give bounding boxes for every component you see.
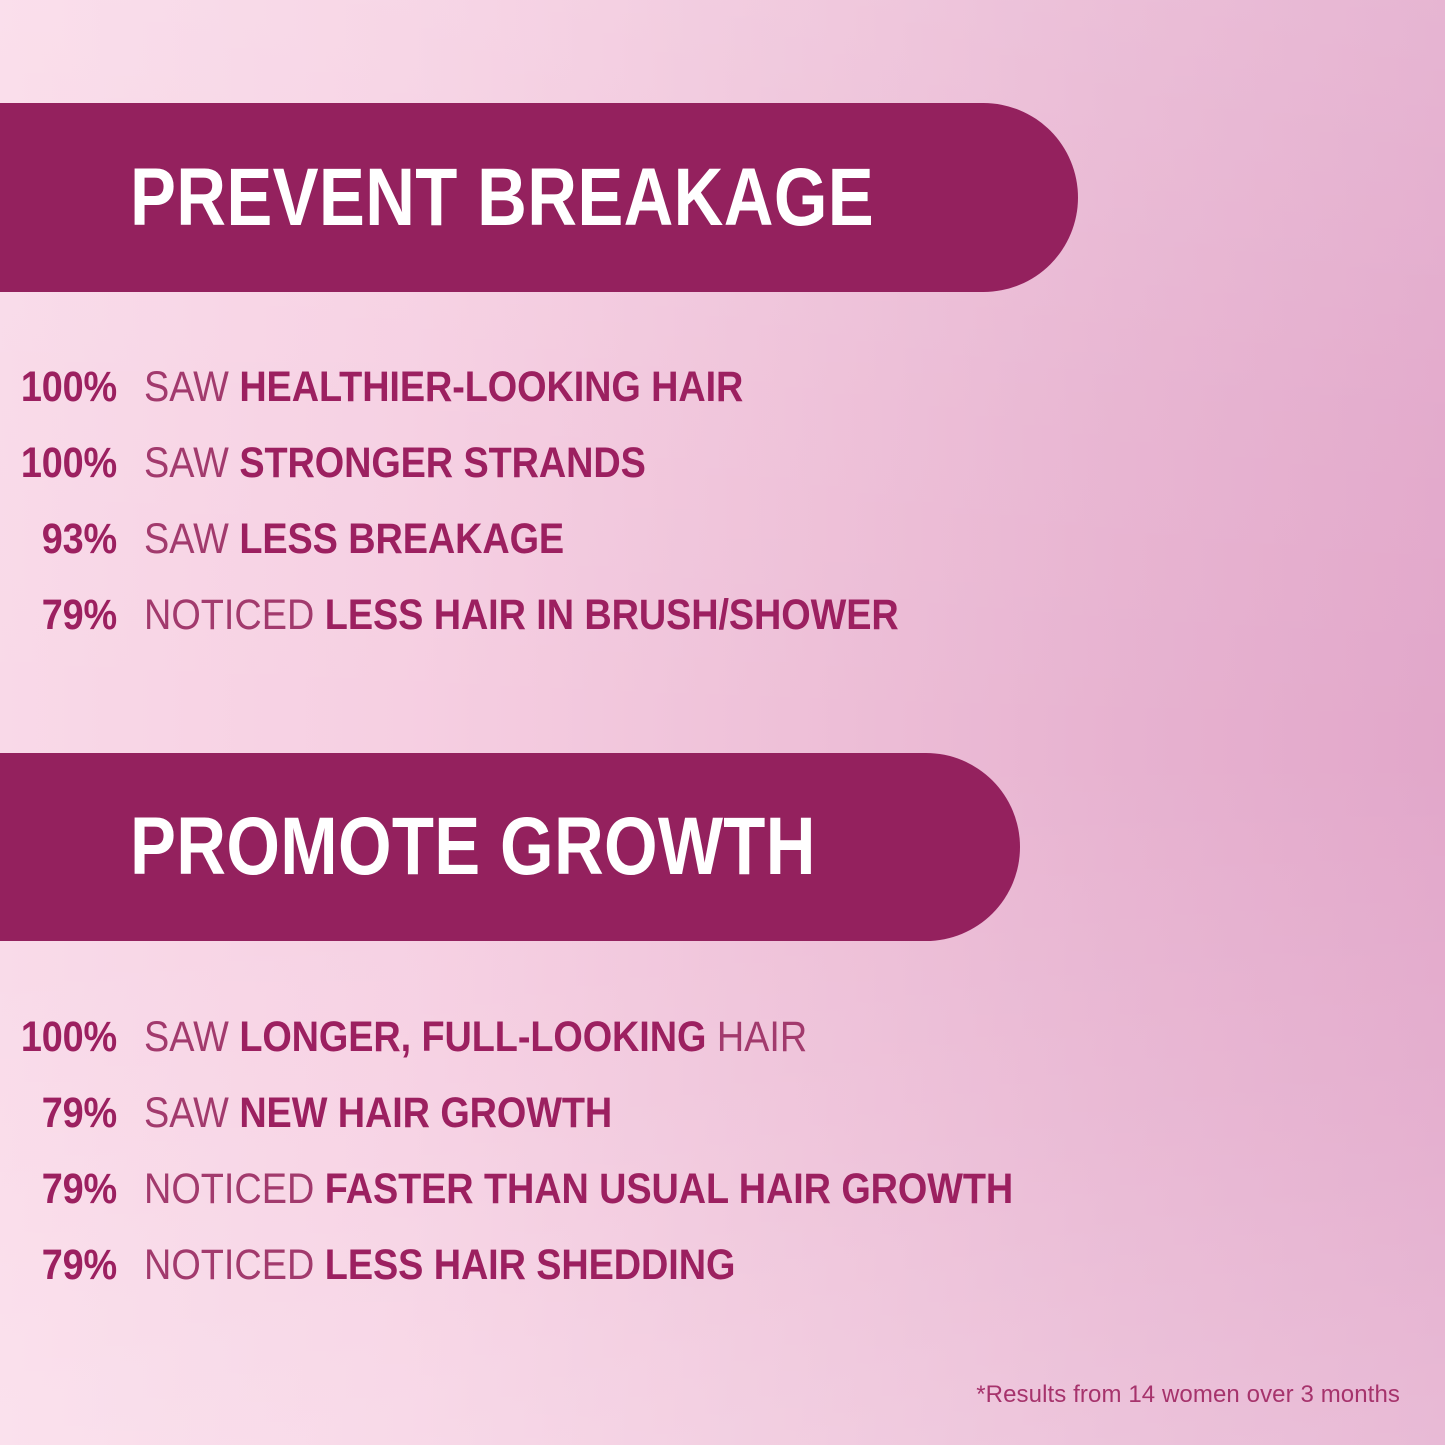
stat-statement: SAW LESS BREAKAGE bbox=[144, 518, 564, 561]
stat-claim: LONGER, FULL-LOOKING bbox=[239, 1013, 706, 1061]
stat-claim: NEW HAIR GROWTH bbox=[239, 1089, 612, 1137]
stat-verb: SAW bbox=[144, 1013, 229, 1061]
stat-row: 100% SAW STRONGER STRANDS bbox=[0, 442, 1445, 518]
stat-row: 79% NOTICED LESS HAIR IN BRUSH/SHOWER bbox=[0, 594, 1445, 670]
stat-verb: NOTICED bbox=[144, 591, 314, 639]
section-banner-promote-growth: PROMOTE GROWTH bbox=[0, 753, 1020, 941]
stat-row: 79% SAW NEW HAIR GROWTH bbox=[0, 1092, 1445, 1168]
stat-percent: 100% bbox=[14, 1016, 117, 1059]
stat-claim: LESS BREAKAGE bbox=[239, 515, 564, 563]
stat-statement: NOTICED LESS HAIR IN BRUSH/SHOWER bbox=[144, 594, 899, 637]
stat-statement: SAW STRONGER STRANDS bbox=[144, 442, 646, 485]
stat-row: 100% SAW LONGER, FULL-LOOKING HAIR bbox=[0, 1016, 1445, 1092]
stat-verb: NOTICED bbox=[144, 1241, 314, 1289]
stat-row: 100% SAW HEALTHIER-LOOKING HAIR bbox=[0, 366, 1445, 442]
stat-verb: SAW bbox=[144, 515, 229, 563]
stat-percent: 100% bbox=[14, 442, 117, 485]
stat-verb: NOTICED bbox=[144, 1165, 314, 1213]
stat-row: 79% NOTICED LESS HAIR SHEDDING bbox=[0, 1244, 1445, 1320]
results-footnote: *Results from 14 women over 3 months bbox=[976, 1381, 1400, 1410]
stat-claim: LESS HAIR SHEDDING bbox=[325, 1241, 736, 1289]
stat-percent: 79% bbox=[14, 1244, 117, 1287]
stat-verb: SAW bbox=[144, 1089, 229, 1137]
hair-results-infographic: PREVENT BREAKAGE 100% SAW HEALTHIER-LOOK… bbox=[0, 0, 1445, 1445]
section-banner-prevent-breakage: PREVENT BREAKAGE bbox=[0, 103, 1078, 292]
banner-title-promote-growth: PROMOTE GROWTH bbox=[130, 806, 816, 888]
stat-row: 93% SAW LESS BREAKAGE bbox=[0, 518, 1445, 594]
stat-statement: SAW LONGER, FULL-LOOKING HAIR bbox=[144, 1016, 807, 1059]
stat-claim: FASTER THAN USUAL HAIR GROWTH bbox=[325, 1165, 1013, 1213]
stat-verb: SAW bbox=[144, 439, 229, 487]
stat-list-prevent-breakage: 100% SAW HEALTHIER-LOOKING HAIR 100% SAW… bbox=[0, 366, 1445, 670]
stat-verb: SAW bbox=[144, 363, 229, 411]
stat-row: 79% NOTICED FASTER THAN USUAL HAIR GROWT… bbox=[0, 1168, 1445, 1244]
stat-percent: 79% bbox=[14, 1092, 117, 1135]
stat-claim: HEALTHIER-LOOKING HAIR bbox=[239, 363, 743, 411]
stat-percent: 93% bbox=[14, 518, 117, 561]
stat-tail: HAIR bbox=[717, 1013, 807, 1061]
stat-claim: STRONGER STRANDS bbox=[239, 439, 645, 487]
stat-statement: NOTICED LESS HAIR SHEDDING bbox=[144, 1244, 735, 1287]
stat-statement: SAW NEW HAIR GROWTH bbox=[144, 1092, 612, 1135]
stat-percent: 100% bbox=[14, 366, 117, 409]
banner-title-prevent-breakage: PREVENT BREAKAGE bbox=[130, 157, 874, 239]
stat-claim: LESS HAIR IN BRUSH/SHOWER bbox=[325, 591, 899, 639]
stat-list-promote-growth: 100% SAW LONGER, FULL-LOOKING HAIR 79% S… bbox=[0, 1016, 1445, 1320]
stat-percent: 79% bbox=[14, 1168, 117, 1211]
stat-statement: NOTICED FASTER THAN USUAL HAIR GROWTH bbox=[144, 1168, 1013, 1211]
stat-percent: 79% bbox=[14, 594, 117, 637]
stat-statement: SAW HEALTHIER-LOOKING HAIR bbox=[144, 366, 743, 409]
